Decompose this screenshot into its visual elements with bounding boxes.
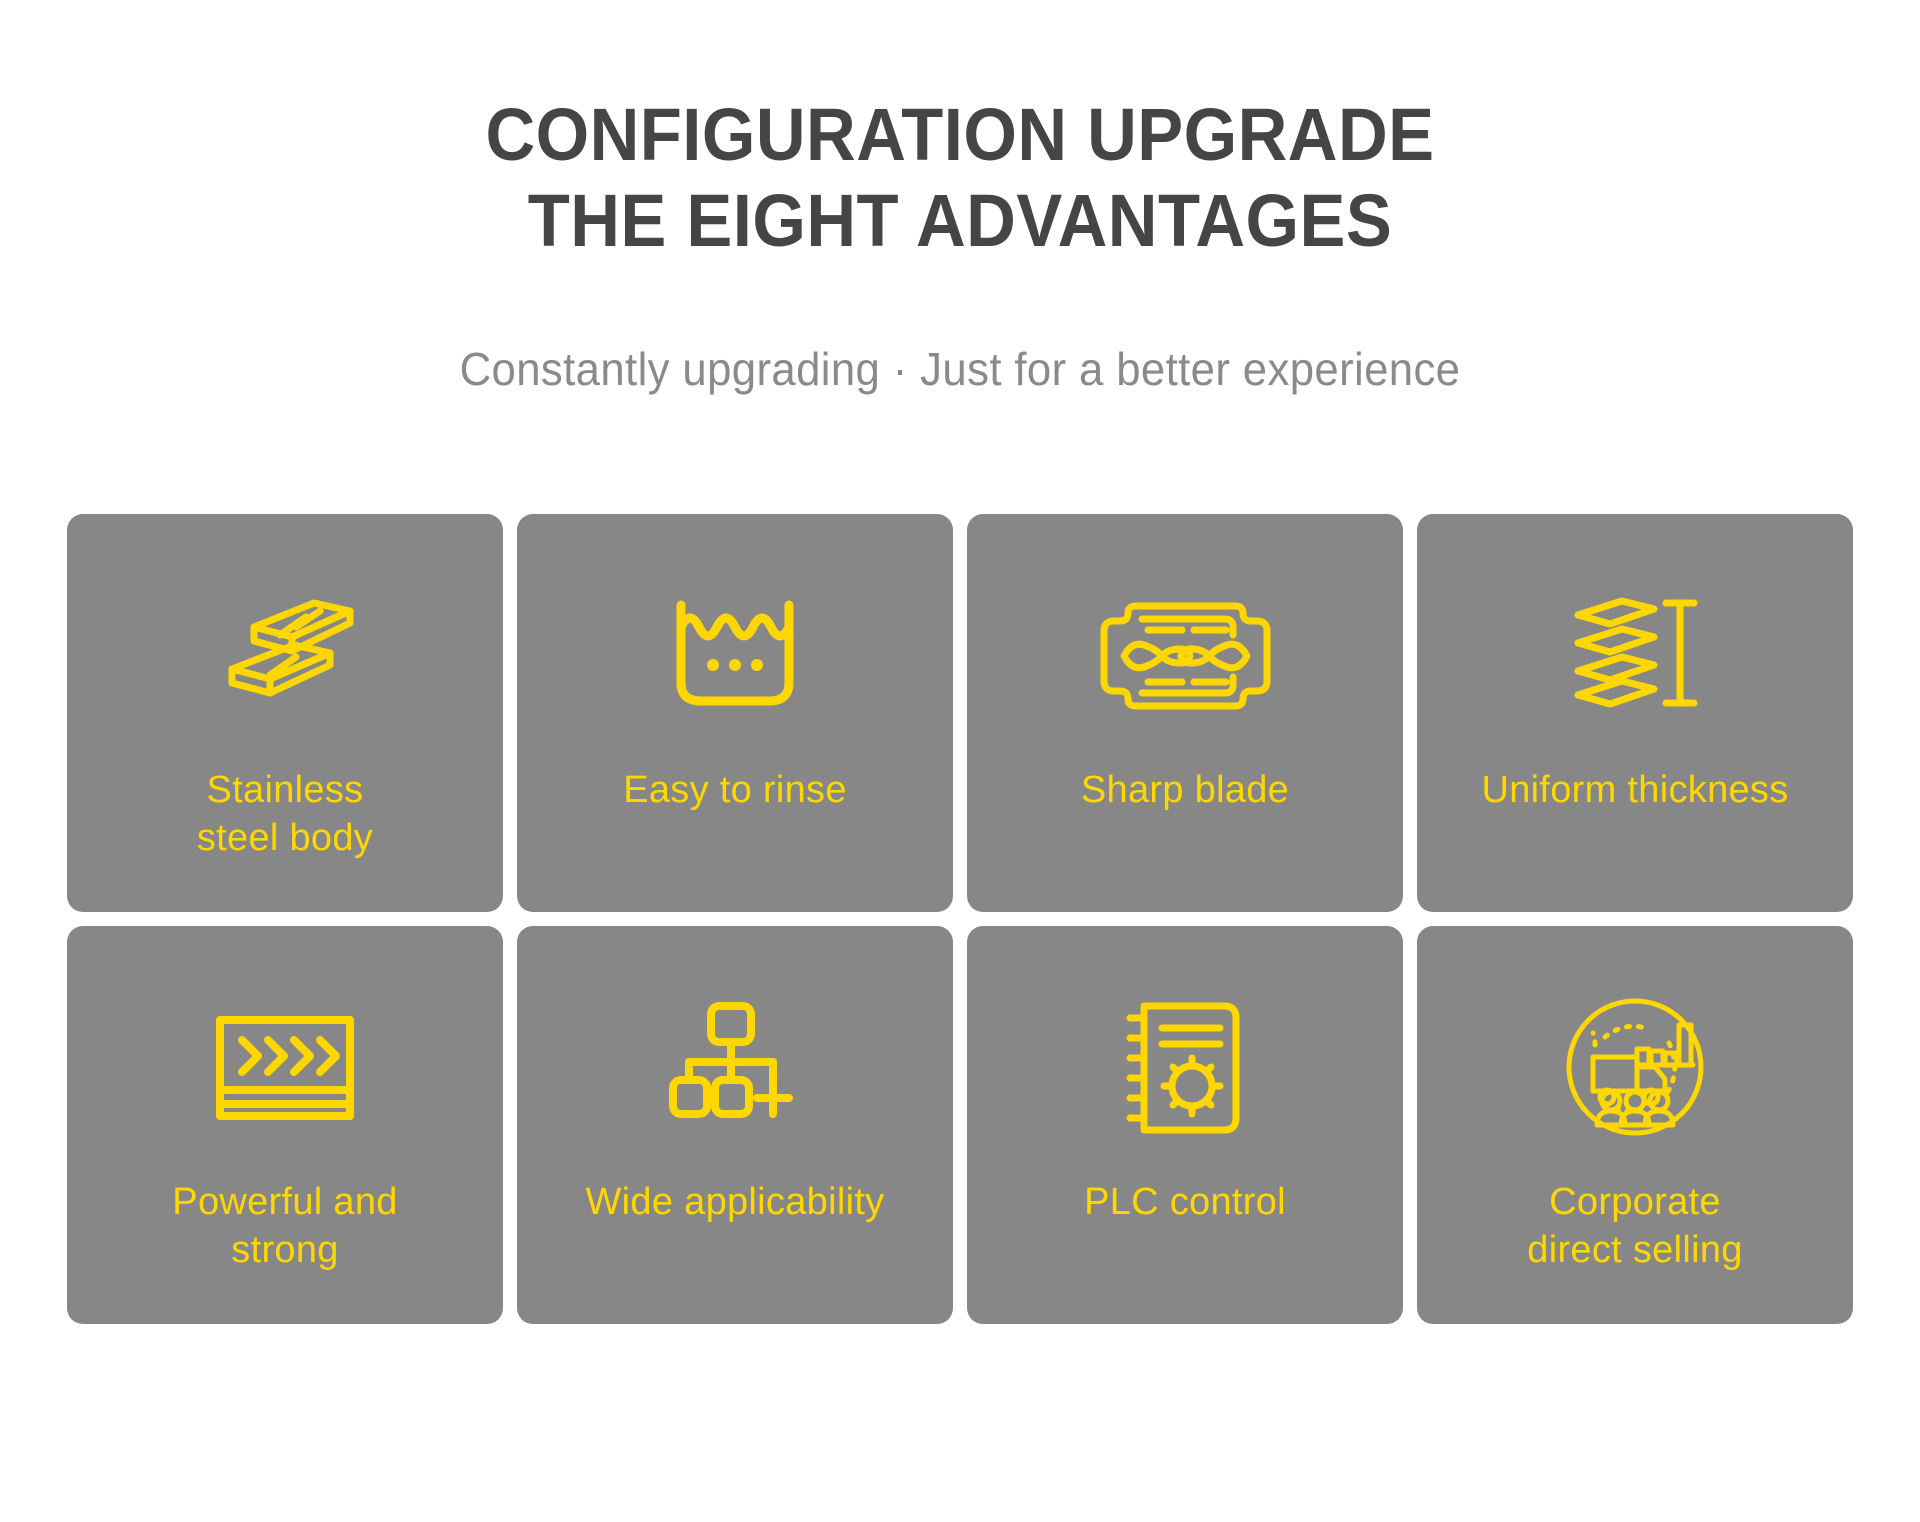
factory-delivery-icon [1563, 988, 1708, 1148]
page-subtitle: Constantly upgrading · Just for a better… [48, 264, 1872, 396]
advantage-label: Uniform thickness [1467, 766, 1802, 815]
advantages-grid: Stainless steel body Easy to rinse [67, 514, 1853, 1324]
advantage-label: Stainless steel body [183, 766, 387, 863]
advantage-label: PLC control [1070, 1178, 1300, 1227]
advantage-card-corporate-direct-selling[interactable]: Corporate direct selling [1417, 926, 1853, 1324]
advantage-card-uniform-thickness[interactable]: Uniform thickness [1417, 514, 1853, 912]
advantage-label: Powerful and strong [158, 1178, 411, 1275]
razor-blade-icon [1098, 576, 1273, 736]
advantage-card-wide-applicability[interactable]: Wide applicability [517, 926, 953, 1324]
power-slicer-icon [210, 988, 360, 1148]
wash-basin-icon [665, 576, 805, 736]
advantage-label: Corporate direct selling [1513, 1178, 1756, 1275]
node-network-plus-icon [665, 988, 805, 1148]
advantages-page: CONFIGURATION UPGRADE THE EIGHT ADVANTAG… [0, 0, 1920, 1522]
page-title: CONFIGURATION UPGRADE THE EIGHT ADVANTAG… [67, 92, 1853, 264]
advantage-card-stainless-steel-body[interactable]: Stainless steel body [67, 514, 503, 912]
advantage-label: Easy to rinse [609, 766, 861, 815]
page-title-line-1: CONFIGURATION UPGRADE [67, 92, 1853, 178]
thickness-gauge-icon [1560, 576, 1710, 736]
advantage-label: Sharp blade [1067, 766, 1303, 815]
advantage-label: Wide applicability [572, 1178, 899, 1227]
stacked-plates-icon [210, 576, 360, 736]
advantage-card-easy-to-rinse[interactable]: Easy to rinse [517, 514, 953, 912]
page-title-line-2: THE EIGHT ADVANTAGES [67, 178, 1853, 264]
plc-controller-icon [1120, 988, 1250, 1148]
page-header: CONFIGURATION UPGRADE THE EIGHT ADVANTAG… [0, 0, 1920, 396]
advantage-card-powerful-and-strong[interactable]: Powerful and strong [67, 926, 503, 1324]
advantage-card-plc-control[interactable]: PLC control [967, 926, 1403, 1324]
advantage-card-sharp-blade[interactable]: Sharp blade [967, 514, 1403, 912]
